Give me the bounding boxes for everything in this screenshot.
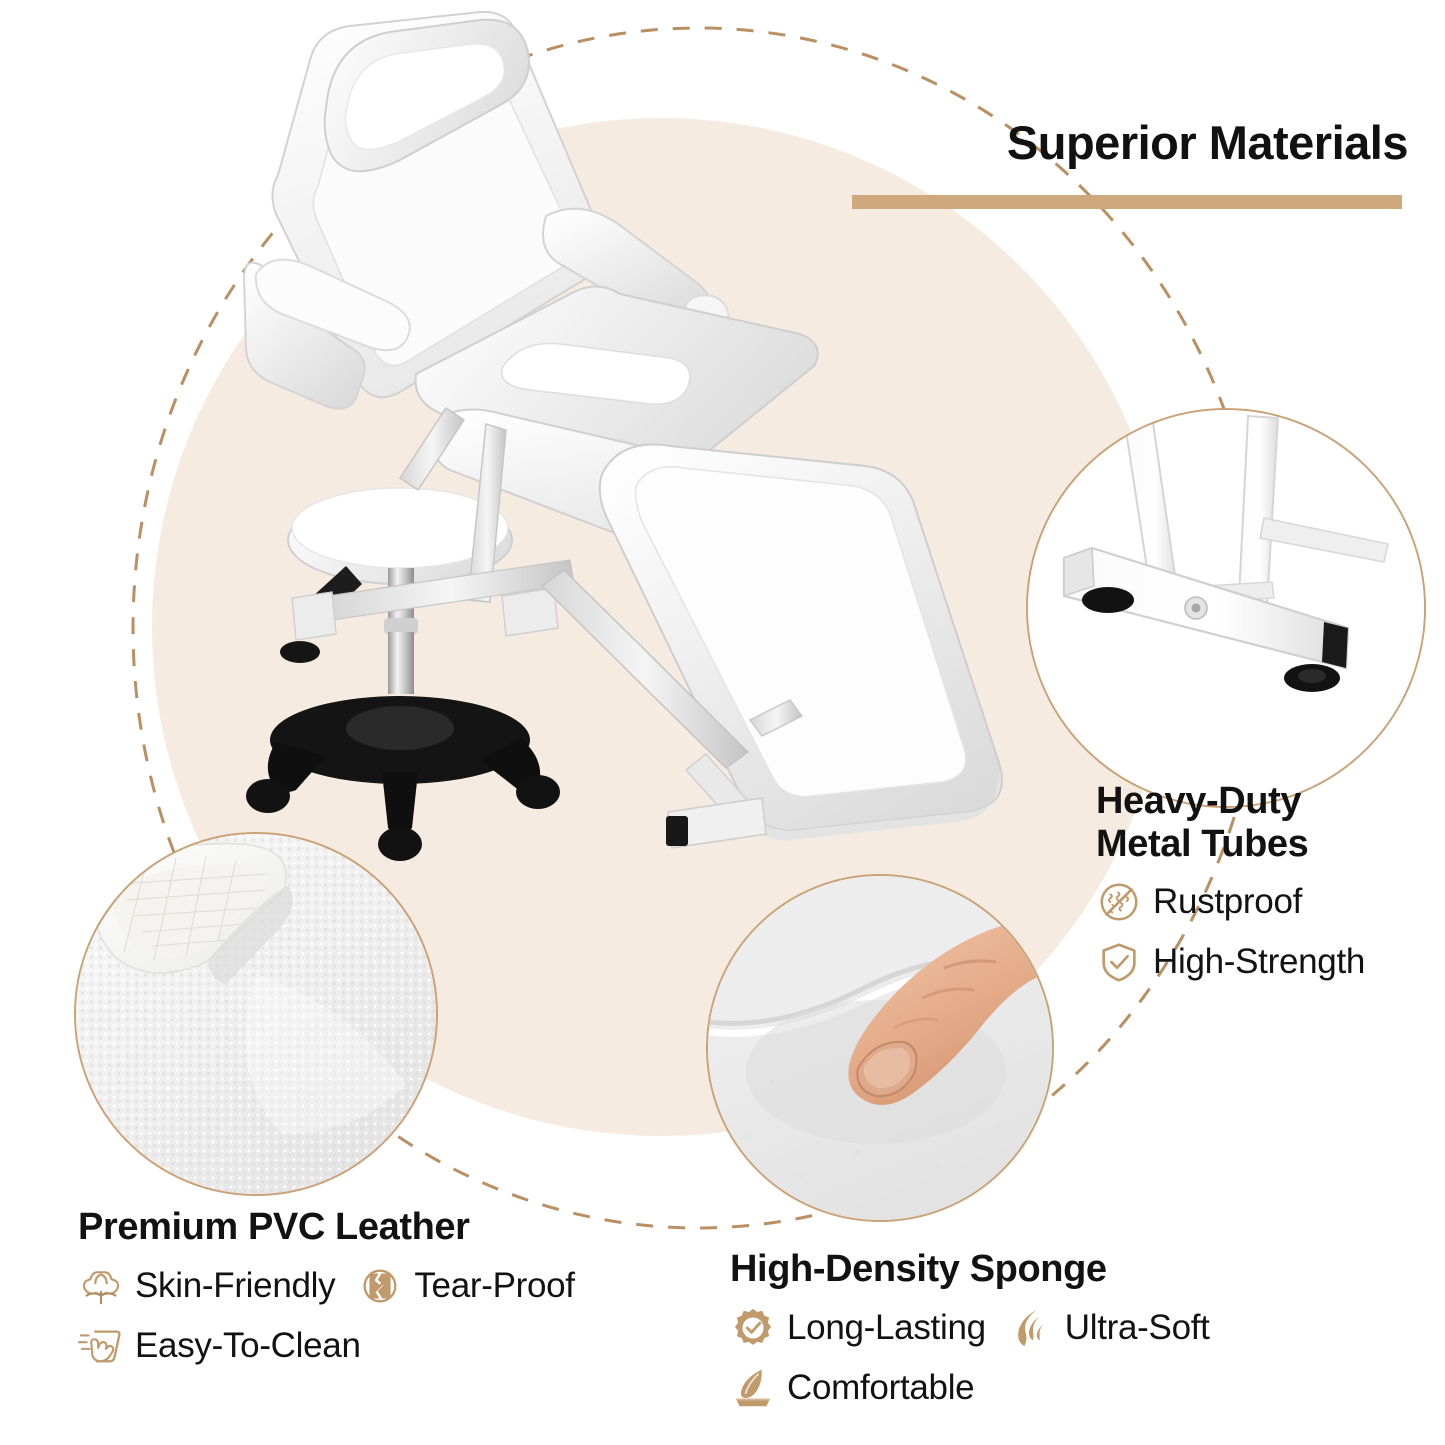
feature-title-pvc-leather: Premium PVC Leather xyxy=(78,1206,738,1249)
wiping-hand-icon xyxy=(78,1323,124,1369)
feature-item-rustproof: Rustproof xyxy=(1096,879,1302,925)
feature-list-high-density-sponge: Long-Lasting Ultra-Soft xyxy=(730,1305,1430,1411)
feature-item-comfortable: Comfortable xyxy=(730,1365,974,1411)
detail-photo-pvc-leather-surface xyxy=(74,832,438,1196)
page-title: Superior Materials xyxy=(848,118,1408,169)
cotton-boll-icon xyxy=(78,1263,124,1309)
no-tear-icon xyxy=(357,1263,403,1309)
detail-photo-metal-tube-base xyxy=(1026,408,1426,808)
feature-row: Comfortable xyxy=(730,1365,1430,1411)
feature-block-metal-tubes: Heavy-Duty Metal Tubes xyxy=(1096,780,1445,999)
feature-item-label: Skin-Friendly xyxy=(135,1266,335,1306)
feature-row: Skin-Friendly Tear-Proof xyxy=(78,1263,738,1309)
title-underline-rule xyxy=(852,195,1402,209)
feature-block-pvc-leather: Premium PVC Leather Skin-Friendly xyxy=(78,1206,738,1383)
feature-item-ultra-soft: Ultra-Soft xyxy=(1008,1305,1210,1351)
feature-item-skin-friendly: Skin-Friendly xyxy=(78,1263,335,1309)
feature-row: Easy-To-Clean xyxy=(78,1323,738,1369)
feather-icon xyxy=(1008,1305,1054,1351)
feature-item-label: High-Strength xyxy=(1153,942,1365,982)
feature-title-metal-tubes: Heavy-Duty Metal Tubes xyxy=(1096,780,1445,865)
feature-item-high-strength: High-Strength xyxy=(1096,939,1365,985)
feature-row: High-Strength xyxy=(1096,939,1445,985)
feature-title-high-density-sponge: High-Density Sponge xyxy=(730,1248,1430,1291)
feature-item-tear-proof: Tear-Proof xyxy=(357,1263,574,1309)
feature-row: Long-Lasting Ultra-Soft xyxy=(730,1305,1430,1351)
feature-list-pvc-leather: Skin-Friendly Tear-Proof xyxy=(78,1263,738,1369)
no-rust-icon xyxy=(1096,879,1142,925)
infographic-canvas: Superior Materials xyxy=(0,0,1445,1445)
feature-item-long-lasting: Long-Lasting xyxy=(730,1305,986,1351)
shield-check-icon xyxy=(1096,939,1142,985)
feature-item-label: Ultra-Soft xyxy=(1065,1308,1210,1348)
gear-check-icon xyxy=(730,1305,776,1351)
feature-block-high-density-sponge: High-Density Sponge Long-Lasting xyxy=(730,1248,1430,1425)
feature-item-label: Rustproof xyxy=(1153,882,1302,922)
detail-photo-sponge-press xyxy=(706,874,1054,1222)
feature-list-metal-tubes: Rustproof High-Strength xyxy=(1096,879,1445,985)
feature-row: Rustproof xyxy=(1096,879,1445,925)
feature-item-label: Long-Lasting xyxy=(787,1308,986,1348)
feature-item-label: Tear-Proof xyxy=(414,1266,574,1306)
feature-item-label: Easy-To-Clean xyxy=(135,1326,361,1366)
feature-item-easy-to-clean: Easy-To-Clean xyxy=(78,1323,361,1369)
feature-item-label: Comfortable xyxy=(787,1368,974,1408)
feather-cushion-icon xyxy=(730,1365,776,1411)
